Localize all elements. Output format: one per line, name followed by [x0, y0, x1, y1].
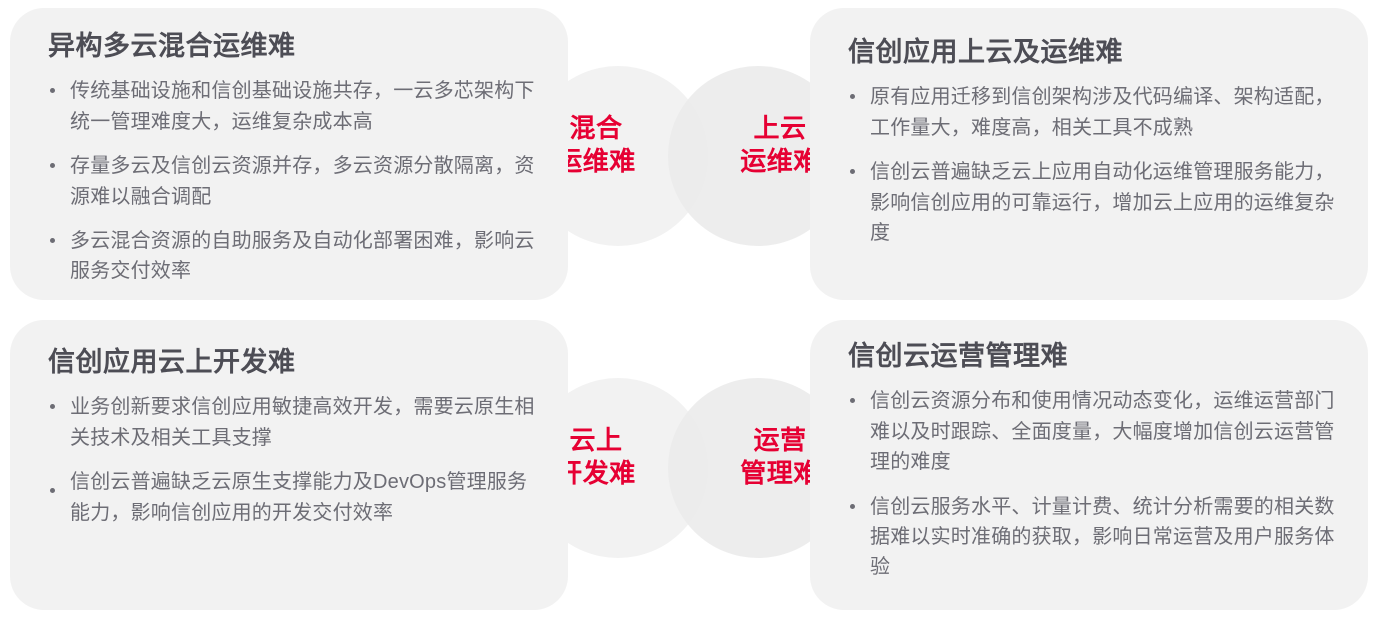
list-item: 信创云普遍缺乏云原生支撑能力及DevOps管理服务能力，影响信创应用的开发交付效…	[48, 467, 542, 528]
card-title: 信创应用云上开发难	[48, 346, 542, 378]
list-item: 业务创新要求信创应用敏捷高效开发，需要云原生相关技术及相关工具支撑	[48, 392, 542, 453]
bullet-list: 信创云资源分布和使用情况动态变化，运维运营部门难以及时跟踪、全面度量，大幅度增加…	[848, 386, 1342, 582]
list-item-text: 存量多云及信创云资源并存，多云资源分散隔离，资源难以融合调配	[70, 155, 535, 207]
card-xinchuang-app-cloud-development: 信创应用云上开发难 业务创新要求信创应用敏捷高效开发，需要云原生相关技术及相关工…	[10, 320, 568, 610]
card-content: 信创应用上云及运维难 原有应用迁移到信创架构涉及代码编译、架构适配，工作量大，难…	[848, 8, 1342, 300]
card-content: 信创云运营管理难 信创云资源分布和使用情况动态变化，运维运营部门难以及时跟踪、全…	[848, 320, 1342, 610]
card-content: 信创应用云上开发难 业务创新要求信创应用敏捷高效开发，需要云原生相关技术及相关工…	[48, 320, 542, 610]
card-title: 异构多云混合运维难	[48, 30, 542, 62]
bullet-dot-icon	[50, 88, 55, 93]
list-item-text: 信创云服务水平、计量计费、统计分析需要的相关数据难以实时准确的获取，影响日常运营…	[870, 496, 1335, 579]
list-item: 传统基础设施和信创基础设施共存，一云多芯架构下统一管理难度大，运维复杂成本高	[48, 76, 542, 137]
list-item: 信创云普遍缺乏云上应用自动化运维管理服务能力，影响信创应用的可靠运行，增加云上应…	[848, 157, 1342, 248]
card-xinchuang-app-cloud-migration-ops: 信创应用上云及运维难 原有应用迁移到信创架构涉及代码编译、架构适配，工作量大，难…	[810, 8, 1368, 300]
list-item-text: 信创云普遍缺乏云原生支撑能力及DevOps管理服务能力，影响信创应用的开发交付效…	[70, 471, 527, 523]
venn-diagram-top: 混合 运维难 上云 运维难	[528, 66, 848, 246]
bullet-list: 业务创新要求信创应用敏捷高效开发，需要云原生相关技术及相关工具支撑 信创云普遍缺…	[48, 392, 542, 528]
card-title: 信创应用上云及运维难	[848, 36, 1342, 68]
list-item: 存量多云及信创云资源并存，多云资源分散隔离，资源难以融合调配	[48, 151, 542, 212]
bullet-dot-icon	[50, 238, 55, 243]
list-item: 信创云资源分布和使用情况动态变化，运维运营部门难以及时跟踪、全面度量，大幅度增加…	[848, 386, 1342, 477]
bullet-dot-icon	[850, 94, 855, 99]
bullet-dot-icon	[50, 404, 55, 409]
bullet-dot-icon	[50, 163, 55, 168]
list-item: 原有应用迁移到信创架构涉及代码编译、架构适配，工作量大，难度高，相关工具不成熟	[848, 82, 1342, 143]
bullet-dot-icon	[850, 398, 855, 403]
list-item-text: 原有应用迁移到信创架构涉及代码编译、架构适配，工作量大，难度高，相关工具不成熟	[870, 86, 1335, 138]
card-title: 信创云运营管理难	[848, 340, 1342, 372]
list-item-text: 业务创新要求信创应用敏捷高效开发，需要云原生相关技术及相关工具支撑	[70, 396, 535, 448]
card-heterogeneous-multicloud-hybrid-ops: 异构多云混合运维难 传统基础设施和信创基础设施共存，一云多芯架构下统一管理难度大…	[10, 8, 568, 300]
card-content: 异构多云混合运维难 传统基础设施和信创基础设施共存，一云多芯架构下统一管理难度大…	[48, 8, 542, 300]
bullet-dot-icon	[850, 169, 855, 174]
list-item-text: 信创云普遍缺乏云上应用自动化运维管理服务能力，影响信创应用的可靠运行，增加云上应…	[870, 161, 1335, 244]
list-item: 信创云服务水平、计量计费、统计分析需要的相关数据难以实时准确的获取，影响日常运营…	[848, 492, 1342, 583]
bullet-dot-icon	[850, 504, 855, 509]
bullet-list: 原有应用迁移到信创架构涉及代码编译、架构适配，工作量大，难度高，相关工具不成熟 …	[848, 82, 1342, 248]
venn-diagram-bottom: 云上 开发难 运营 管理难	[528, 378, 848, 558]
bullet-dot-icon	[50, 488, 55, 493]
list-item: 多云混合资源的自助服务及自动化部署困难，影响云服务交付效率	[48, 226, 542, 287]
bullet-list: 传统基础设施和信创基础设施共存，一云多芯架构下统一管理难度大，运维复杂成本高 存…	[48, 76, 542, 286]
list-item-text: 多云混合资源的自助服务及自动化部署困难，影响云服务交付效率	[70, 230, 535, 282]
infographic-canvas: 异构多云混合运维难 传统基础设施和信创基础设施共存，一云多芯架构下统一管理难度大…	[0, 0, 1378, 620]
list-item-text: 信创云资源分布和使用情况动态变化，运维运营部门难以及时跟踪、全面度量，大幅度增加…	[870, 390, 1335, 473]
card-xinchuang-cloud-operations-management: 信创云运营管理难 信创云资源分布和使用情况动态变化，运维运营部门难以及时跟踪、全…	[810, 320, 1368, 610]
list-item-text: 传统基础设施和信创基础设施共存，一云多芯架构下统一管理难度大，运维复杂成本高	[70, 80, 535, 132]
